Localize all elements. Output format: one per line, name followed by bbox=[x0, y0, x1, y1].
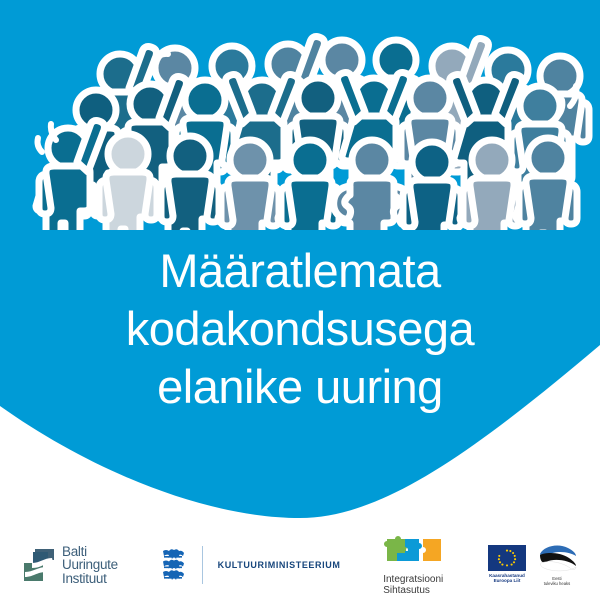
logo-euroopa-liit: Kaasrahastanud Euroopa Liit bbox=[488, 545, 526, 584]
balti-uuringute-instituut-label: Balti Uuringute Instituut bbox=[62, 545, 118, 586]
int-line-2: Sihtasutus bbox=[383, 585, 443, 596]
logo-kultuuriministeerium: Kultuuriministeerium bbox=[161, 546, 341, 584]
eesti-tuleviku-heaks-label: Eesti tuleviku heaks bbox=[544, 576, 571, 586]
kultuuriministeerium-label: Kultuuriministeerium bbox=[218, 560, 341, 570]
euroopa-liit-label: Kaasrahastanud Euroopa Liit bbox=[489, 573, 525, 584]
bui-line-2: Uuringute bbox=[62, 558, 118, 572]
european-union-flag-icon bbox=[488, 545, 526, 571]
ee-line-2: tuleviku heaks bbox=[544, 581, 571, 586]
logo-eesti-tuleviku-heaks: Eesti tuleviku heaks bbox=[536, 545, 578, 586]
logo-integratsiooni-sihtasutus: Integratsiooni Sihtasutus bbox=[383, 535, 445, 596]
bui-line-3: Instituut bbox=[62, 572, 118, 586]
poster-title: Määratlemata kodakondsusega elanike uuri… bbox=[0, 242, 600, 416]
four-puzzle-pieces-icon bbox=[383, 535, 445, 565]
bui-line-1: Balti bbox=[62, 545, 118, 559]
footer-logo-strip: Balti Uuringute Instituut bbox=[0, 530, 600, 600]
poster-title-line-3: elanike uuring bbox=[0, 358, 600, 416]
poster-title-line-1: Määratlemata bbox=[0, 242, 600, 300]
int-line-1: Integratsiooni bbox=[383, 574, 443, 585]
poster-canvas: Määratlemata kodakondsusega elanike uuri… bbox=[0, 0, 600, 600]
estonian-coat-of-arms-icon bbox=[161, 548, 187, 582]
integratsiooni-sihtasutus-label: Integratsiooni Sihtasutus bbox=[383, 574, 443, 596]
estonia-flag-swoosh-icon bbox=[536, 545, 578, 575]
kultuuriministeerium-divider bbox=[202, 546, 203, 584]
eu-line-2: Euroopa Liit bbox=[489, 578, 525, 584]
logo-balti-uuringute-instituut: Balti Uuringute Instituut bbox=[22, 545, 118, 586]
balti-uuringute-instituut-mark-icon bbox=[22, 546, 56, 584]
logo-eu-and-estonia-group: Kaasrahastanud Euroopa Liit Eesti tulevi… bbox=[488, 545, 578, 586]
crowd-of-people-icon bbox=[0, 0, 600, 230]
poster-title-line-2: kodakondsusega bbox=[0, 300, 600, 358]
